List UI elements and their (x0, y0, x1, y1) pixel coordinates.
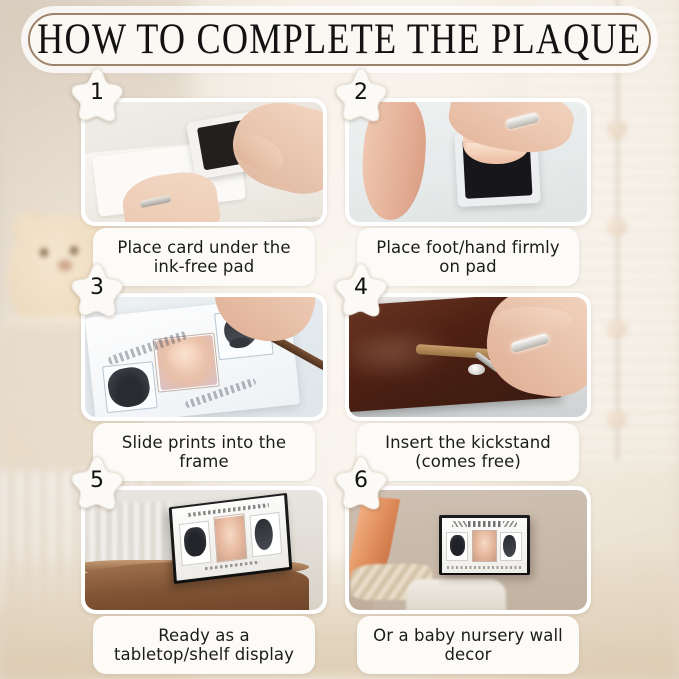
star-badge-1: 1 (69, 66, 125, 122)
step-caption-6: Or a baby nursery wall decor (365, 626, 571, 664)
step-number-6: 6 (333, 454, 389, 510)
step-number-5: 5 (69, 454, 125, 510)
step-number-4: 4 (333, 261, 389, 317)
step-caption-1: Place card under the ink-free pad (101, 238, 307, 276)
step-caption-5: Ready as a tabletop/shelf display (101, 626, 307, 664)
step-card-3: 3 (81, 275, 327, 461)
star-badge-5: 5 (69, 454, 125, 510)
star-badge-2: 2 (333, 66, 389, 122)
star-badge-6: 6 (333, 454, 389, 510)
step-card-4: 4 Insert the kickstand (comes free) (345, 275, 591, 461)
step-card-5: 5 (81, 468, 327, 654)
star-badge-4: 4 (333, 261, 389, 317)
step-caption-panel-5: Ready as a tabletop/shelf display (93, 616, 315, 674)
step-number-3: 3 (69, 261, 125, 317)
step-card-6: 6 (345, 468, 591, 654)
step-card-2: 2 Place foot/hand firmly on pad (345, 80, 591, 266)
infographic-page: HOW TO COMPLETE THE PLAQUE 1 (0, 0, 679, 679)
step-caption-2: Place foot/hand firmly on pad (365, 238, 571, 276)
step-card-1: 1 Place card under the ink-free pad (81, 80, 327, 266)
step-number-1: 1 (69, 66, 125, 122)
star-badge-3: 3 (69, 261, 125, 317)
step-number-2: 2 (333, 66, 389, 122)
step-caption-panel-6: Or a baby nursery wall decor (357, 616, 579, 674)
page-title-panel: HOW TO COMPLETE THE PLAQUE (28, 13, 651, 66)
page-title: HOW TO COMPLETE THE PLAQUE (37, 18, 641, 62)
steps-grid: 1 Place card under the ink-free pad (0, 80, 679, 670)
step-caption-4: Insert the kickstand (comes free) (365, 433, 571, 471)
step-caption-3: Slide prints into the frame (101, 433, 307, 471)
